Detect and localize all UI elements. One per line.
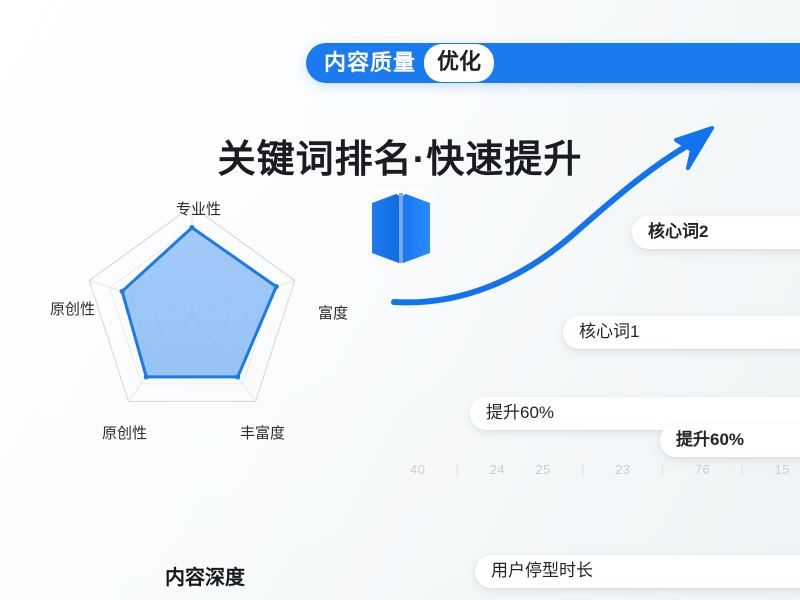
radar-point — [274, 284, 279, 289]
radar-chart: 专业性 富度 丰富度 原创性 原创性 — [40, 190, 370, 450]
radar-label-bottom-left: 原创性 — [102, 422, 147, 443]
radar-label-left: 原创性 — [50, 298, 95, 319]
tick-label: 40 — [410, 462, 425, 477]
radar-point — [235, 374, 240, 379]
tick-label: 24 — [490, 462, 505, 477]
radar-label-top: 专业性 — [176, 198, 221, 219]
tag-core-keyword-2[interactable]: 核心词2 — [632, 216, 800, 249]
tick-label: 25 — [535, 462, 550, 477]
tag-core-keyword-1[interactable]: 核心词1 — [563, 316, 800, 349]
badge-chip-label: 优化 — [424, 44, 494, 82]
tick-label: 76 — [695, 462, 710, 477]
tick-mark: | — [661, 462, 665, 477]
tick-mark: | — [740, 462, 744, 477]
badge-main-label: 内容质量 — [324, 52, 416, 74]
tick-mark: | — [581, 462, 585, 477]
tick-mark: | — [456, 462, 460, 477]
tag-dwell-time[interactable]: 用户停型时长 — [475, 555, 800, 588]
radar-point — [189, 225, 194, 230]
radar-label-bottom-right: 丰富度 — [240, 422, 285, 443]
radar-point — [144, 374, 149, 379]
radar-label-right: 富度 — [318, 302, 348, 323]
tick-label: 23 — [615, 462, 630, 477]
tick-axis: 40|2425|23|76|15 — [410, 462, 790, 477]
poster-canvas: 内容质量 优化 关键词排名·快速提升 专业性 富度 丰富度 原创性 原创性 内容… — [0, 0, 800, 600]
tag-uplift-right[interactable]: 提升60% — [660, 424, 800, 457]
tick-label: 15 — [774, 462, 789, 477]
open-book-icon — [366, 185, 436, 273]
radar-point — [120, 289, 125, 294]
content-quality-badge[interactable]: 内容质量 优化 — [306, 43, 800, 83]
